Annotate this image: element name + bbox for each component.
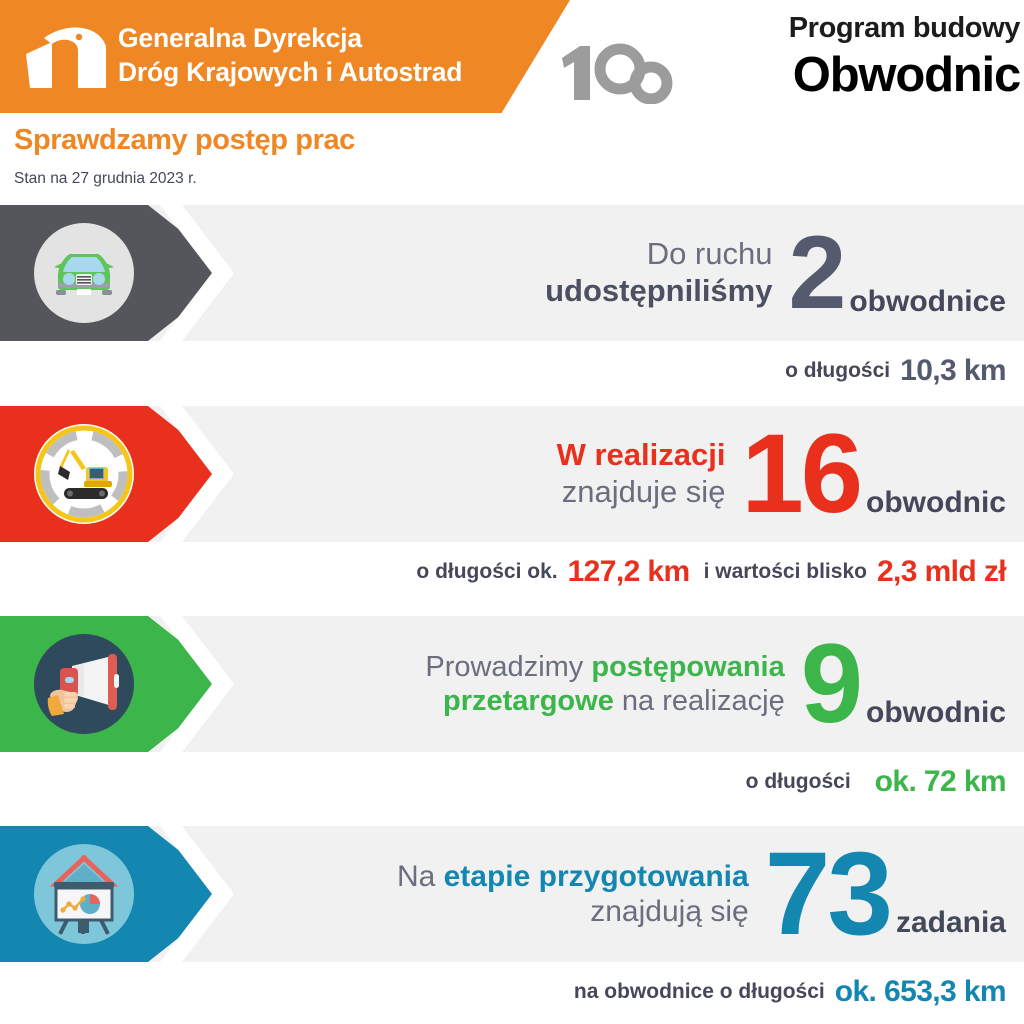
row-main-text: Do ruchu udostępniliśmy 2 obwodnice <box>545 205 1006 341</box>
row-sub-label: na obwodnice o długości <box>574 980 825 1004</box>
program-title-line2: Obwodnic <box>700 46 1020 104</box>
row-sub-value: ok. 72 km <box>875 765 1006 799</box>
row-phrase-line1-a: Prowadzimy <box>425 651 591 683</box>
row-subline: o długości 10,3 km <box>0 341 1006 401</box>
megaphone-hand-icon <box>34 634 134 734</box>
stat-row-udostepnione: Do ruchu udostępniliśmy 2 obwodnice o dł… <box>0 205 1024 401</box>
header: Generalna Dyrekcja Dróg Krajowych i Auto… <box>0 0 1024 113</box>
subtitle-headline: Sprawdzamy postęp prac <box>14 124 355 157</box>
program-title: Program budowy Obwodnic <box>700 10 1020 104</box>
row-phrase-line1-b: postępowania <box>591 651 784 683</box>
row-unit: zadania <box>896 906 1006 940</box>
row-phrase-line1: Na etapie przygotowania <box>397 859 749 894</box>
stat-row-przetargi: Prowadzimy postępowania przetargowe na r… <box>0 616 1024 812</box>
program-title-line1: Program budowy <box>700 10 1020 46</box>
row-sub-value: ok. 653,3 km <box>835 975 1006 1009</box>
row-unit: obwodnic <box>866 696 1006 730</box>
row-phrase: W realizacji znajduje się <box>557 437 726 510</box>
stat-row-w-realizacji: W realizacji znajduje się 16 obwodnic o … <box>0 406 1024 602</box>
row-number: 2 <box>788 221 843 325</box>
row-phrase-line1-a: Na <box>397 860 444 893</box>
row-number: 73 <box>765 835 890 953</box>
row-number: 9 <box>801 628 860 740</box>
stat-row-przygotowanie: Na etapie przygotowania znajdują się 73 … <box>0 826 1024 1022</box>
green-car-icon <box>34 223 134 323</box>
row-phrase: Do ruchu udostępniliśmy <box>545 236 772 309</box>
subtitle-date: Stan na 27 grudnia 2023 r. <box>14 170 197 188</box>
row-phrase: Prowadzimy postępowania przetargowe na r… <box>425 650 784 718</box>
row-phrase-line2-a: przetargowe <box>443 685 614 717</box>
row-sub-label: o długości <box>746 770 851 794</box>
row-phrase-line1: Do ruchu <box>545 236 772 273</box>
row-unit: obwodnic <box>866 486 1006 520</box>
row-subline: o długości ok. 127,2 km i wartości blisk… <box>0 542 1006 602</box>
row-phrase-line1: Prowadzimy postępowania <box>425 650 784 684</box>
row-sub-label: o długości <box>785 359 890 383</box>
agency-name-line2: Dróg Krajowych i Autostrad <box>118 55 462 89</box>
row-phrase-line2: udostępniliśmy <box>545 273 772 310</box>
row-sub-label-2: i wartości blisko <box>704 560 867 584</box>
agency-name-line1: Generalna Dyrekcja <box>118 21 462 55</box>
presentation-board-chart-icon <box>34 844 134 944</box>
row-subline: na obwodnice o długości ok. 653,3 km <box>0 962 1006 1022</box>
row-sub-label: o długości ok. <box>416 560 557 584</box>
row-sub-value: 10,3 km <box>900 354 1006 388</box>
row-number: 16 <box>741 418 860 530</box>
gddkia-road-eagle-icon <box>22 24 114 92</box>
row-phrase-line2-b: na realizację <box>614 685 785 717</box>
row-phrase-line2: znajduje się <box>557 474 726 511</box>
row-main-text: W realizacji znajduje się 16 obwodnic <box>557 406 1006 542</box>
row-subline: o długości ok. 72 km <box>0 752 1006 812</box>
row-phrase-line2: znajdują się <box>397 894 749 929</box>
row-sub-value: 127,2 km <box>568 555 690 589</box>
row-phrase-line2: przetargowe na realizację <box>425 684 784 718</box>
row-sub-value-2: 2,3 mld zł <box>877 555 1006 589</box>
excavator-roadworks-icon <box>34 424 134 524</box>
row-unit: obwodnice <box>849 285 1006 319</box>
row-main-text: Na etapie przygotowania znajdują się 73 … <box>397 826 1006 962</box>
agency-name: Generalna Dyrekcja Dróg Krajowych i Auto… <box>118 21 462 89</box>
row-phrase-line1: W realizacji <box>557 437 726 474</box>
infographic-page: Generalna Dyrekcja Dróg Krajowych i Auto… <box>0 0 1024 1024</box>
row-main-text: Prowadzimy postępowania przetargowe na r… <box>425 616 1006 752</box>
logo-100-icon <box>556 42 688 104</box>
row-phrase: Na etapie przygotowania znajdują się <box>397 859 749 930</box>
row-phrase-line1-b: etapie przygotowania <box>444 860 749 893</box>
